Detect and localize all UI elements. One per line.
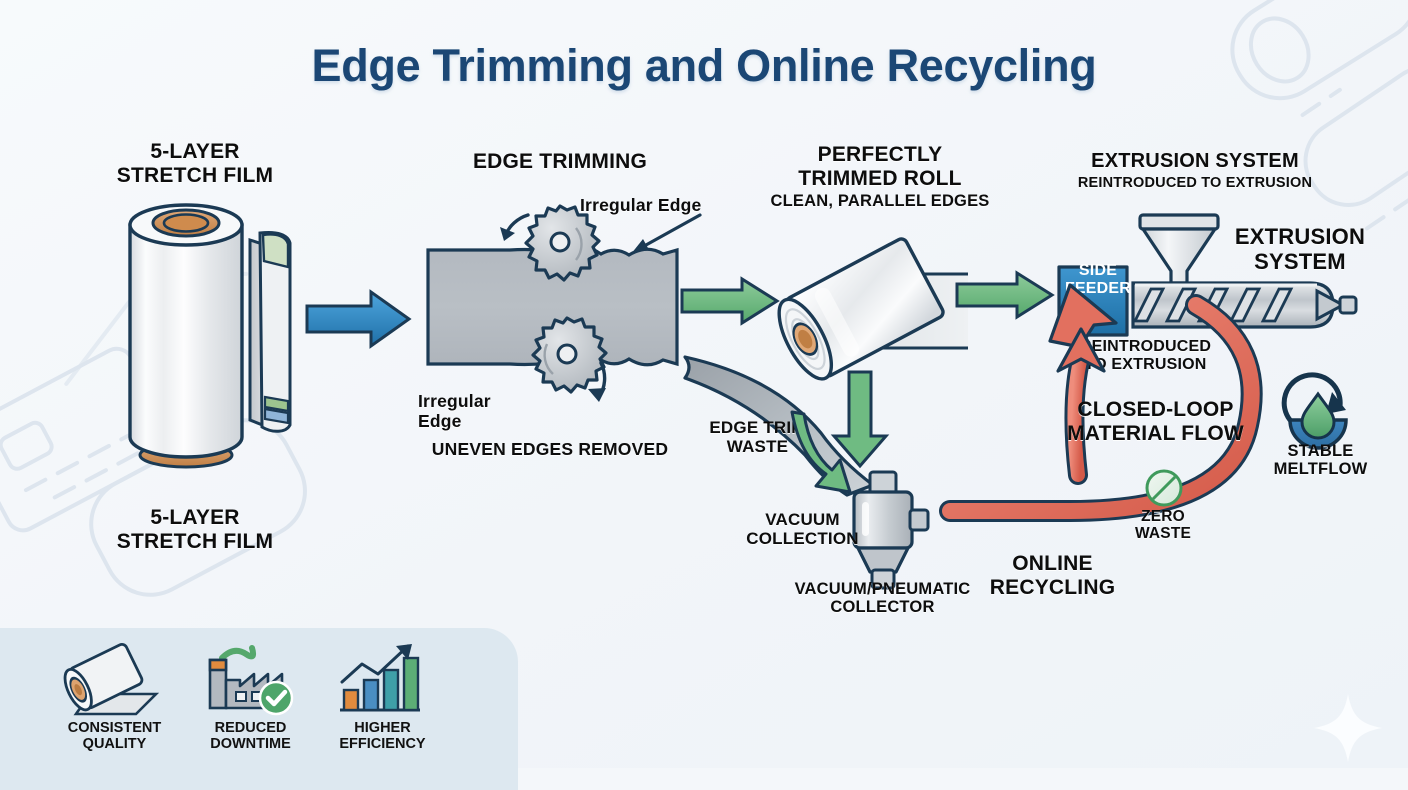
- trimmed-roll-subheading: CLEAN, PARALLEL EDGES: [770, 192, 990, 210]
- closed-loop-material-flow-label: CLOSED-LOOP MATERIAL FLOW: [1063, 398, 1248, 445]
- trimmed-roll-heading: PERFECTLY TRIMMED ROLL: [770, 143, 990, 190]
- stable-meltflow-label: STABLE MELTFLOW: [1258, 442, 1383, 479]
- bar-chart-growth-icon: [320, 640, 438, 716]
- edge-trimming-heading: EDGE TRIMMING: [420, 150, 700, 174]
- zero-waste-label: ZERO WASTE: [1118, 508, 1208, 543]
- benefit-consistent-quality: CONSISTENT QUALITY: [52, 644, 177, 752]
- online-recycling-label: ONLINE RECYCLING: [975, 552, 1130, 599]
- zero-waste-icon: [1142, 466, 1186, 510]
- blue-flow-arrow: [305, 288, 415, 350]
- extrusion-subheading: REINTRODUCED TO EXTRUSION: [1035, 175, 1355, 191]
- vacuum-collection-label: VACUUM COLLECTION: [740, 510, 865, 548]
- film-roll-icon: [52, 644, 170, 716]
- factory-check-icon: [188, 640, 306, 716]
- green-flow-arrow-1: [680, 278, 785, 328]
- infographic-canvas: Edge Trimming and Online Recycling 5-LAY…: [0, 0, 1408, 768]
- irregular-edge-top-label: Irregular Edge: [580, 196, 750, 216]
- film-roll-bottom-label: 5-LAYER STRETCH FILM: [70, 506, 320, 553]
- uneven-edges-removed-label: UNEVEN EDGES REMOVED: [415, 440, 685, 460]
- benefit-higher-efficiency: HIGHER EFFICIENCY: [320, 640, 445, 752]
- irregular-edge-bottom-label: Irregular Edge: [418, 392, 538, 431]
- benefit-label: REDUCED DOWNTIME: [188, 720, 313, 752]
- extrusion-machine-label: EXTRUSION SYSTEM: [1210, 225, 1390, 274]
- film-roll-top-label: 5-LAYER STRETCH FILM: [70, 140, 320, 187]
- benefit-reduced-downtime: REDUCED DOWNTIME: [188, 640, 313, 752]
- benefit-label: HIGHER EFFICIENCY: [320, 720, 445, 752]
- benefit-label: CONSISTENT QUALITY: [52, 720, 177, 752]
- extrusion-heading: EXTRUSION SYSTEM: [1035, 150, 1355, 172]
- five-layer-film-roll-illustration: [100, 185, 330, 475]
- page-title: Edge Trimming and Online Recycling: [0, 40, 1408, 92]
